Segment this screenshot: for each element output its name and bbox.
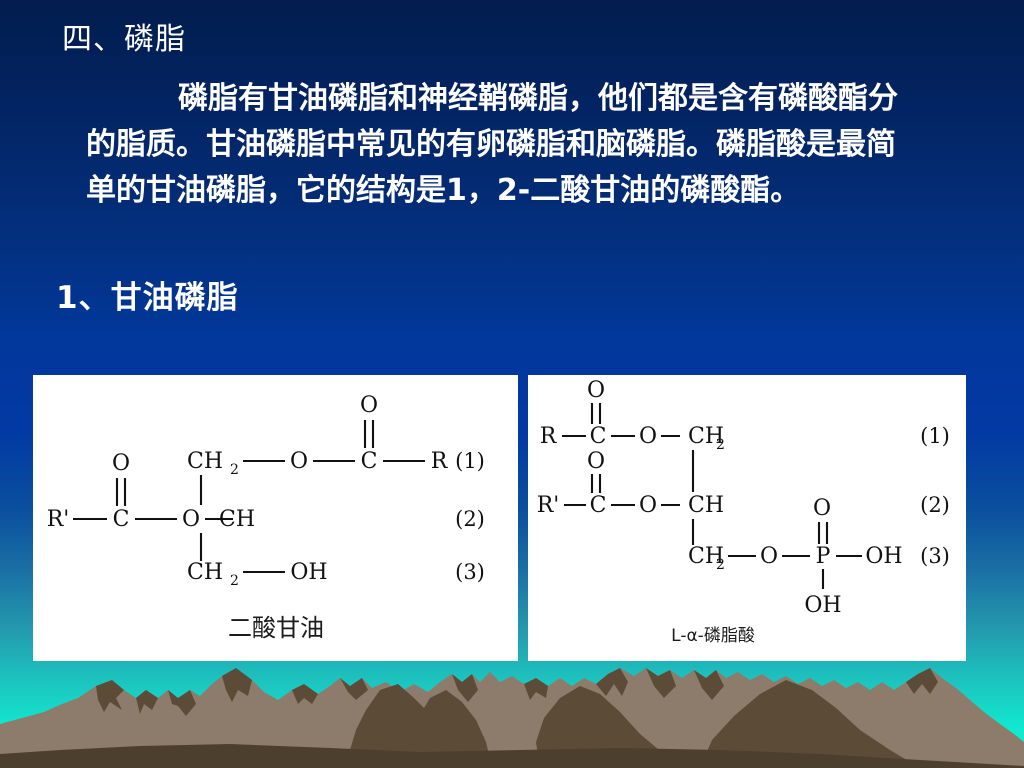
position-label-2-right: (2) [920,493,950,517]
atom-r-prime-chain2-right: R' [537,493,560,518]
position-label-3: (3) [455,560,485,584]
structure-panel-diacylglycerol: CH 2 O C R O R' C O CH CH CH O [33,375,518,661]
body-paragraph: 磷脂有甘油磷脂和神经鞘磷脂，他们都是含有磷酸酯分的脂质。甘油磷脂中常见的有卵磷脂… [86,76,918,214]
position-label-2: (2) [455,507,485,531]
atom-o-carbonyl1-right: O [587,378,605,403]
atom-ch2-subscript-position1: 2 [230,462,239,478]
atom-o-phosphoester: O [760,544,778,569]
sub-heading: 1、甘油磷脂 [56,272,239,317]
page-title: 四、磷脂 [62,14,186,58]
atom-oh-phosphate-bottom: OH [804,593,841,618]
presentation-slide: 四、磷脂 磷脂有甘油磷脂和神经鞘磷脂，他们都是含有磷酸酯分的脂质。甘油磷脂中常见… [0,0,1024,768]
atom-r-chain1-right: R [540,424,558,449]
atom-ch2-subscript-position3: 2 [230,573,239,589]
atom-ch-position2-right: CH [688,493,724,518]
position-label-1: (1) [455,449,485,473]
atom-o-ester2: O [182,507,200,532]
atom-o-carbonyl2-right: O [587,449,605,474]
atom-oh-phosphate-right: OH [865,544,902,569]
atom-o-carbonyl2: O [112,451,130,476]
atom-p-phosphorus: P [816,544,831,569]
atom-c-carbonyl2-right: C [590,493,607,518]
atom-c-carbonyl2: C [113,507,130,532]
atom-o-phosphoryl: O [813,496,831,521]
atom-c-carbonyl1-right: C [590,424,607,449]
diacylglycerol-structure-diagram: CH 2 O C R O R' C O CH CH CH O [33,375,518,661]
structure-caption-diacylglycerol: 二酸甘油 [228,614,324,642]
atom-ch2-subscript-position3-right: 2 [716,557,725,573]
atom-o-ester2-right: O [639,493,657,518]
atom-r-prime-chain2: R' [47,507,70,532]
structure-caption-phosphatidic-acid: L-α-磷脂酸 [671,626,755,646]
atom-r-chain1: R [431,449,449,474]
atom-o-ester1: O [290,449,308,474]
atom-c-carbonyl1: C [361,449,378,474]
atom-ch2-position3: CH [187,560,223,585]
atom-ch2-position1: CH [187,449,223,474]
structure-panel-phosphatidic-acid: R C O CH 2 O R' C O CH O CH [528,375,966,661]
atom-o-carbonyl1: O [360,393,378,418]
atom-o-ester1-right: O [639,424,657,449]
phosphatidic-acid-structure-diagram: R C O CH 2 O R' C O CH O CH [528,375,966,661]
position-label-1-right: (1) [920,424,950,448]
position-label-3-right: (3) [920,544,950,568]
atom-oh-position3: OH [290,560,327,585]
atom-ch2-subscript-position1-right: 2 [716,437,725,453]
atom-ch-center: CH [219,507,255,532]
